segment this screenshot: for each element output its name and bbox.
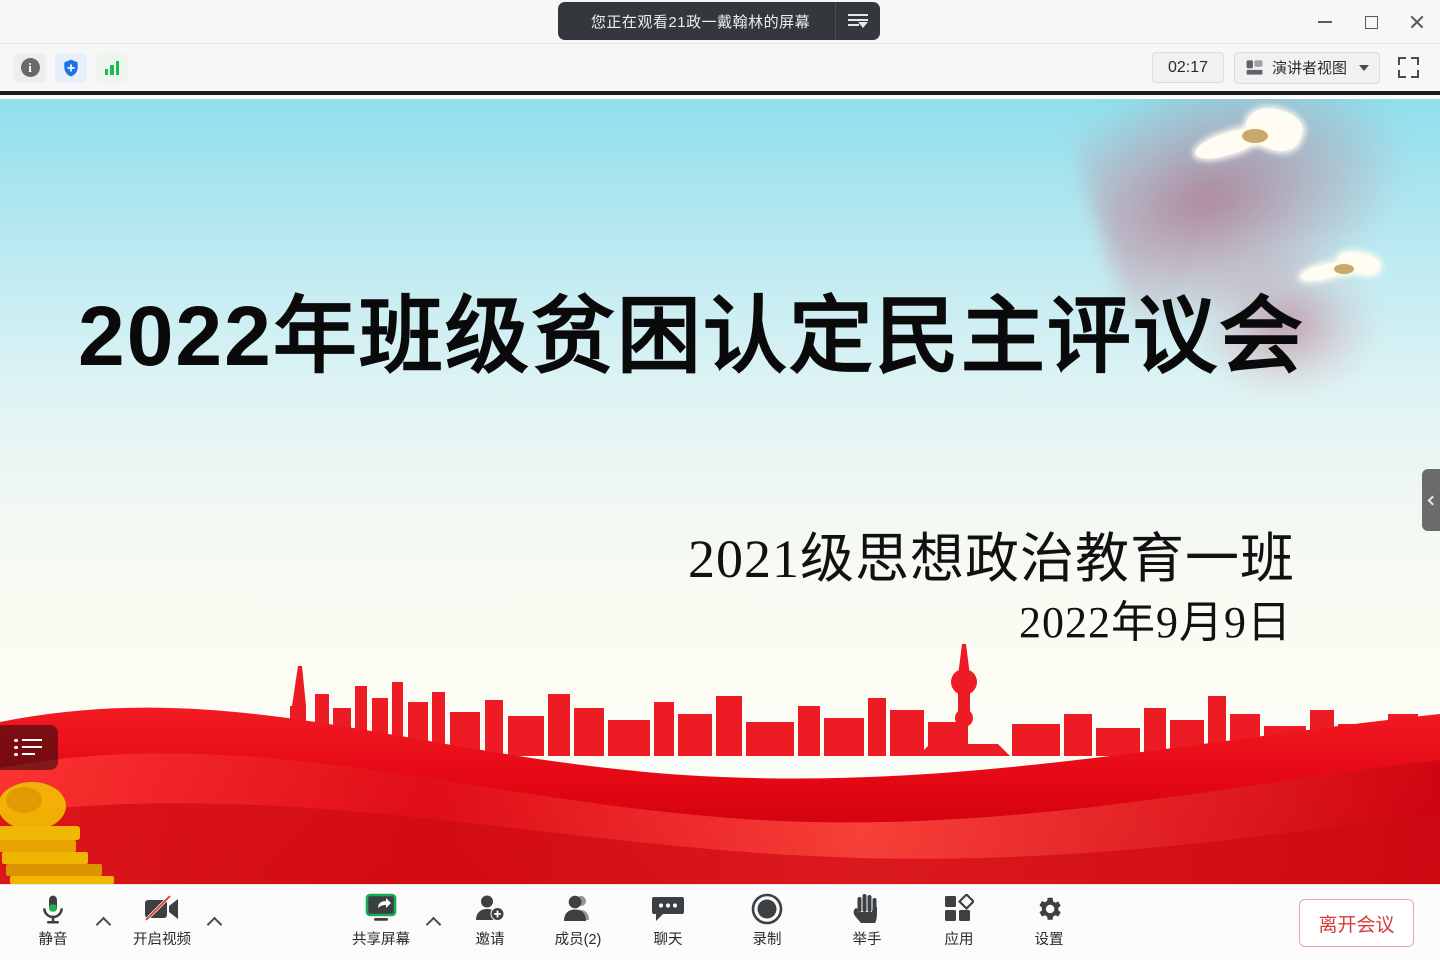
apps-label: 应用 (945, 928, 974, 949)
users-icon (562, 891, 594, 927)
fullscreen-icon (1398, 57, 1419, 78)
hamburger-menu-icon[interactable] (836, 2, 880, 40)
share-options-caret[interactable] (427, 915, 441, 929)
leave-meeting-label: 离开会议 (1318, 910, 1394, 937)
list-icon[interactable] (0, 725, 58, 770)
audio-options-caret[interactable] (97, 915, 111, 929)
start-video-button[interactable]: 开启视频 (126, 891, 198, 955)
apps-grid-icon (944, 891, 974, 927)
video-options-caret[interactable] (208, 915, 222, 929)
title-bar: 您正在观看21政一戴翰林的屏幕 (0, 0, 1440, 44)
speaker-view-icon (1245, 58, 1264, 77)
window-controls (1302, 0, 1440, 44)
info-icon: i (21, 58, 40, 77)
slide-subtitle: 2021级思想政治教育一班 (495, 514, 1295, 593)
meeting-toolbar: 静音 开启视频 (0, 884, 1440, 960)
red-flag-wave-graphic (0, 664, 1440, 884)
apps-button[interactable]: 应用 (923, 891, 995, 955)
settings-button[interactable]: 设置 (1013, 891, 1085, 955)
signal-bars-icon (105, 60, 120, 75)
camera-off-icon (144, 891, 180, 927)
raised-hand-icon (852, 891, 882, 927)
record-label: 录制 (753, 928, 782, 949)
leave-meeting-button[interactable]: 离开会议 (1299, 899, 1414, 947)
shared-screen-stage[interactable]: 2022年班级贫困认定民主评议会 2021级思想政治教育一班 2022年9月9日 (0, 99, 1440, 884)
maximize-button[interactable] (1348, 0, 1394, 44)
invite-button[interactable]: 邀请 (454, 891, 526, 955)
members-label: 成员(2) (555, 928, 602, 949)
slide-title: 2022年班级贫困认定民主评议会 (78, 291, 1378, 382)
close-button[interactable] (1394, 0, 1440, 44)
dove-icon (1300, 249, 1382, 293)
maximize-icon (1365, 16, 1378, 29)
panel-collapse-button[interactable] (1422, 469, 1440, 531)
fullscreen-button[interactable] (1390, 50, 1426, 86)
status-right-group: 02:17 演讲者视图 (1152, 50, 1426, 86)
chat-button[interactable]: 聊天 (632, 891, 704, 955)
gear-icon (1034, 891, 1064, 927)
invite-label: 邀请 (476, 928, 505, 949)
meeting-status-bar: i 02:17 演讲者视图 (0, 44, 1440, 95)
network-quality-button[interactable] (96, 53, 128, 83)
user-add-icon (474, 891, 506, 927)
security-button[interactable] (55, 53, 87, 83)
share-screen-button[interactable]: 共享屏幕 (345, 891, 417, 955)
minimize-button[interactable] (1302, 0, 1348, 44)
raise-hand-label: 举手 (853, 928, 882, 949)
mute-label: 静音 (39, 928, 68, 949)
screen-share-notice[interactable]: 您正在观看21政一戴翰林的屏幕 (558, 2, 880, 40)
list-glyph (14, 738, 44, 758)
minimize-icon (1318, 21, 1332, 23)
chevron-down-icon (1359, 65, 1369, 71)
view-mode-label: 演讲者视图 (1272, 57, 1347, 78)
slide-date: 2022年9月9日 (492, 586, 1292, 650)
microphone-icon (37, 891, 69, 927)
national-emblem-icon (0, 774, 124, 884)
meeting-timer: 02:17 (1152, 52, 1224, 83)
shield-plus-icon (61, 58, 81, 78)
hamburger-glyph (848, 14, 868, 28)
status-left-group: i (14, 53, 128, 83)
share-screen-label: 共享屏幕 (352, 928, 410, 949)
settings-label: 设置 (1035, 928, 1064, 949)
share-screen-icon (363, 891, 399, 927)
view-mode-selector[interactable]: 演讲者视图 (1234, 52, 1380, 84)
close-icon (1409, 14, 1425, 30)
mute-button[interactable]: 静音 (17, 891, 89, 955)
start-video-label: 开启视频 (133, 928, 191, 949)
chat-bubble-icon (651, 891, 685, 927)
zoom-meeting-window: 您正在观看21政一戴翰林的屏幕 i (0, 0, 1440, 960)
meeting-info-button[interactable]: i (14, 53, 46, 83)
chevron-left-icon (1428, 495, 1438, 505)
chat-label: 聊天 (654, 928, 683, 949)
record-button[interactable]: 录制 (731, 891, 803, 955)
record-circle-icon (751, 891, 783, 927)
dove-icon (1190, 107, 1310, 177)
screen-share-notice-text: 您正在观看21政一戴翰林的屏幕 (558, 11, 835, 32)
members-button[interactable]: 成员(2) (542, 891, 614, 955)
raise-hand-button[interactable]: 举手 (831, 891, 903, 955)
